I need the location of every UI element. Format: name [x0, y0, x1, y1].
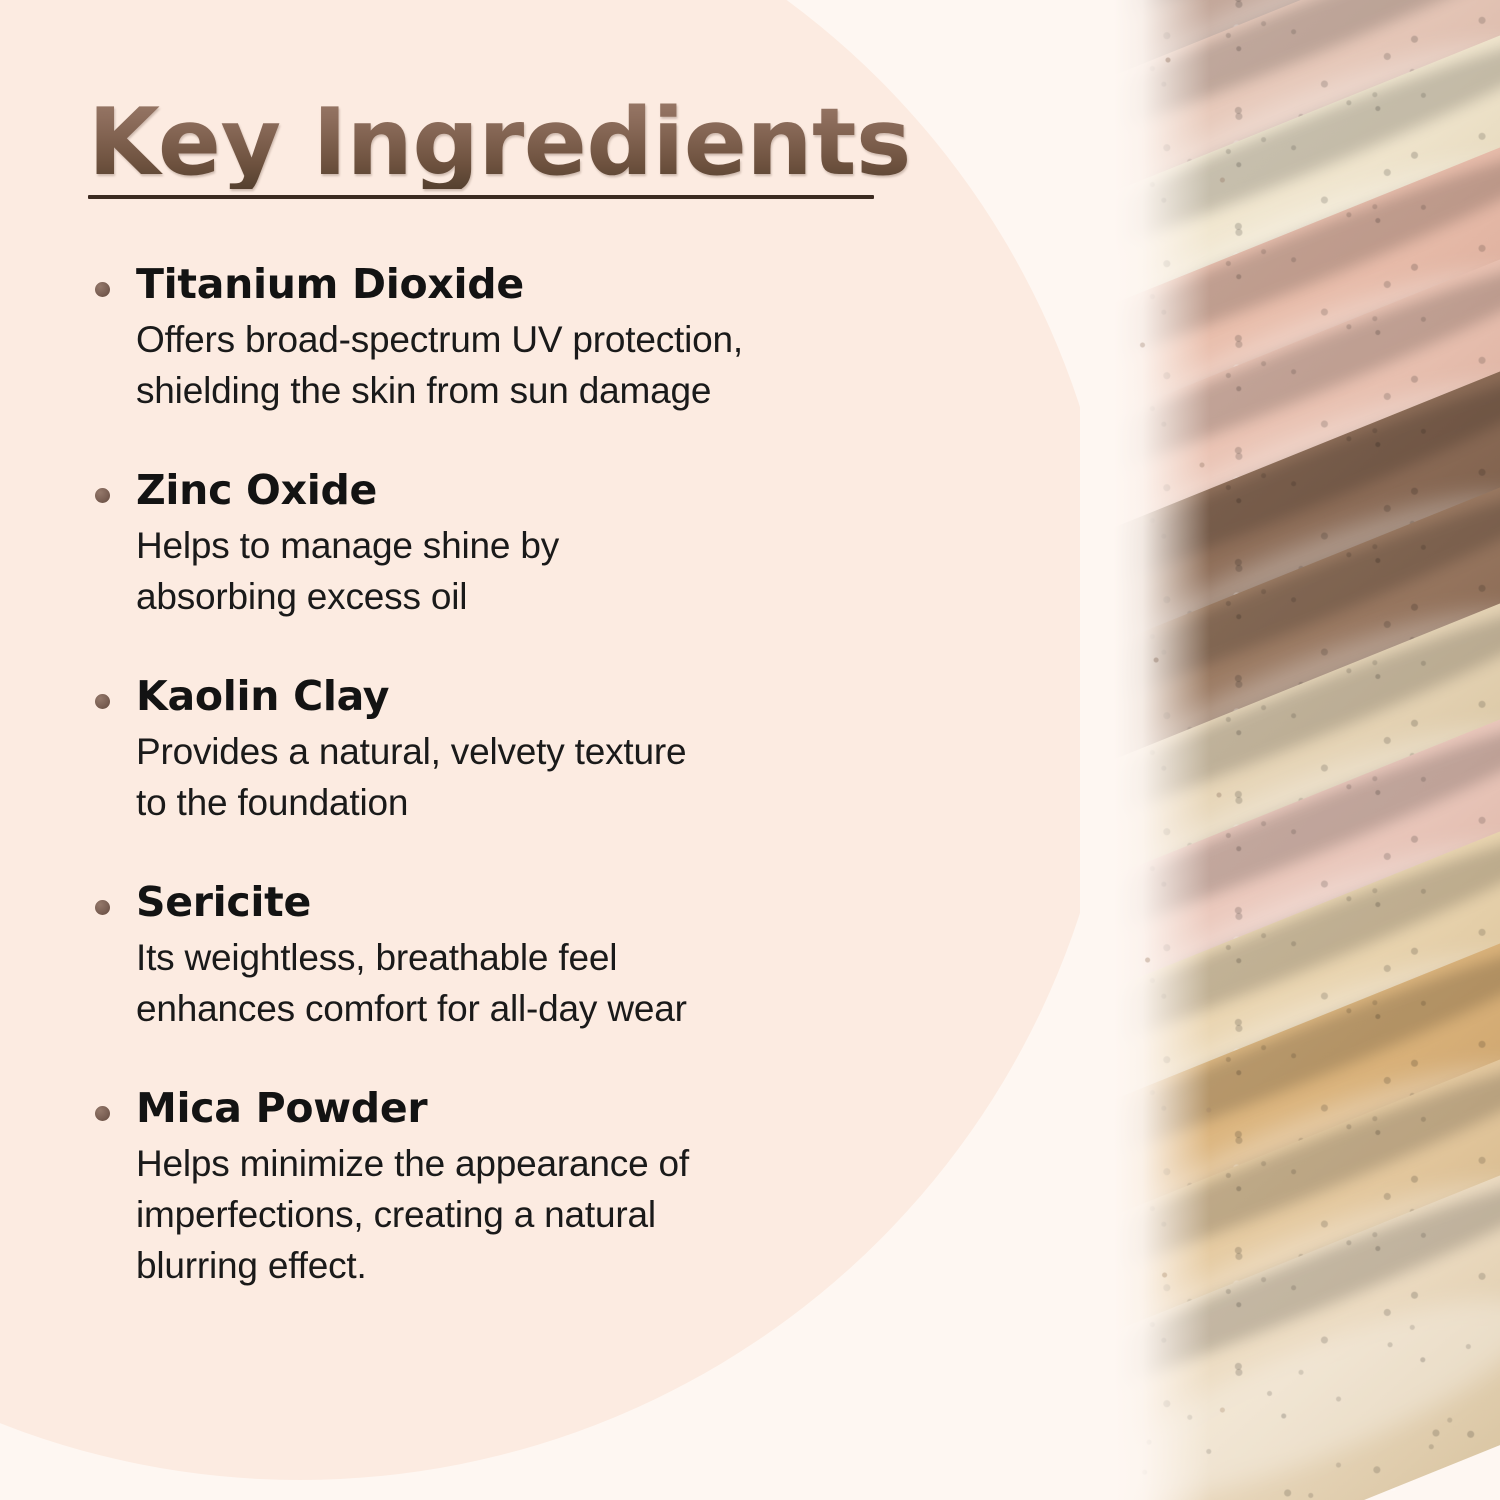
bullet-dot-icon	[95, 900, 110, 915]
list-item: Mica Powder Helps minimize the appearanc…	[88, 1086, 1008, 1291]
ingredient-name: Mica Powder	[136, 1086, 1008, 1132]
key-ingredients-poster: Key Ingredients Titanium Dioxide Offers …	[0, 0, 1500, 1500]
list-item: Titanium Dioxide Offers broad-spectrum U…	[88, 262, 1008, 416]
ingredient-description: Its weightless, breathable feel enhances…	[136, 932, 1008, 1034]
ingredient-name: Kaolin Clay	[136, 674, 1008, 720]
page-title: Key Ingredients	[88, 96, 908, 189]
list-item: Kaolin Clay Provides a natural, velvety …	[88, 674, 1008, 828]
ingredient-description: Helps to manage shine by absorbing exces…	[136, 520, 1008, 622]
ingredient-name: Titanium Dioxide	[136, 262, 1008, 308]
ingredient-description: Offers broad-spectrum UV protection, shi…	[136, 314, 1008, 416]
powder-band-stack	[1080, 0, 1500, 1500]
ingredient-name: Sericite	[136, 880, 1008, 926]
powder-swatch-photo	[1080, 0, 1500, 1500]
bullet-dot-icon	[95, 1106, 110, 1121]
bullet-dot-icon	[95, 488, 110, 503]
ingredient-list: Titanium Dioxide Offers broad-spectrum U…	[88, 262, 1008, 1291]
ingredient-name: Zinc Oxide	[136, 468, 1008, 514]
bullet-dot-icon	[95, 282, 110, 297]
content-column: Key Ingredients Titanium Dioxide Offers …	[0, 0, 1120, 1500]
bullet-dot-icon	[95, 694, 110, 709]
list-item: Zinc Oxide Helps to manage shine by abso…	[88, 468, 1008, 622]
ingredient-description: Provides a natural, velvety texture to t…	[136, 726, 1008, 828]
list-item: Sericite Its weightless, breathable feel…	[88, 880, 1008, 1034]
ingredient-description: Helps minimize the appearance of imperfe…	[136, 1138, 1008, 1291]
page-title-block: Key Ingredients	[88, 96, 908, 199]
